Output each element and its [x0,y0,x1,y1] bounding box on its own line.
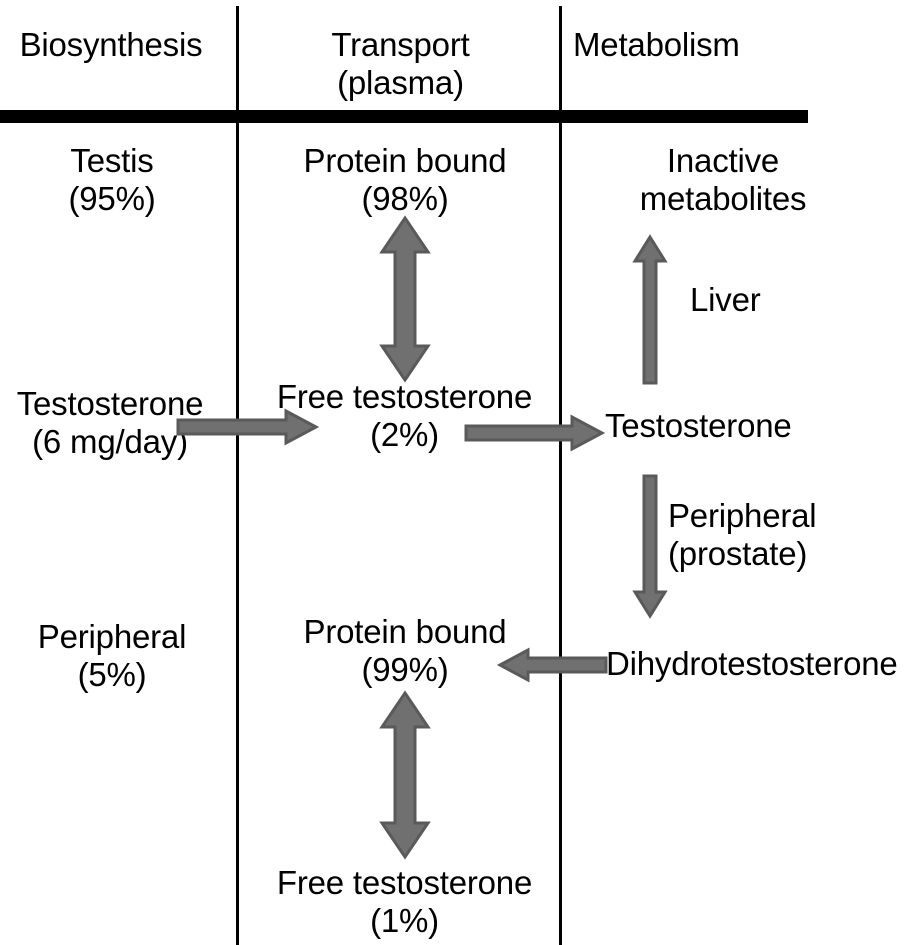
node-testosterone-tissue: Testosterone [605,407,905,445]
arrow-testosterone-to-free-testosterone [176,408,318,446]
node-testis: Testis (95%) [0,142,224,219]
arrow-testosterone-to-dihydrotestosterone [633,474,667,618]
arrow-dihydrotestosterone-to-protein-bound-99 [498,648,608,682]
column-header-transport: Transport (plasma) [248,26,553,103]
column-header-biosynthesis: Biosynthesis [0,26,222,64]
arrow-testosterone-to-inactive-metabolites [633,235,667,385]
column-divider-right [559,6,562,945]
node-inactive-metabolites: Inactive metabolites [578,142,868,219]
arrow-protein-bound-98-equilibrium [378,216,432,382]
arrow-protein-bound-99-equilibrium [378,691,432,859]
diagram-canvas: Biosynthesis Transport (plasma) Metaboli… [0,0,907,945]
column-divider-left [236,6,239,945]
node-protein-bound-98: Protein bound (98%) [255,142,555,219]
node-dihydrotestosterone: Dihydrotestosterone [606,645,906,683]
node-free-testosterone-1: Free testosterone (1%) [252,864,557,941]
annotation-peripheral-prostate: Peripheral (prostate) [668,497,898,574]
column-header-metabolism: Metabolism [573,26,903,64]
annotation-liver: Liver [690,281,820,319]
header-separator-rule [0,110,808,123]
arrow-free-testosterone-to-testosterone [464,414,604,452]
node-peripheral-source: Peripheral (5%) [0,618,224,695]
